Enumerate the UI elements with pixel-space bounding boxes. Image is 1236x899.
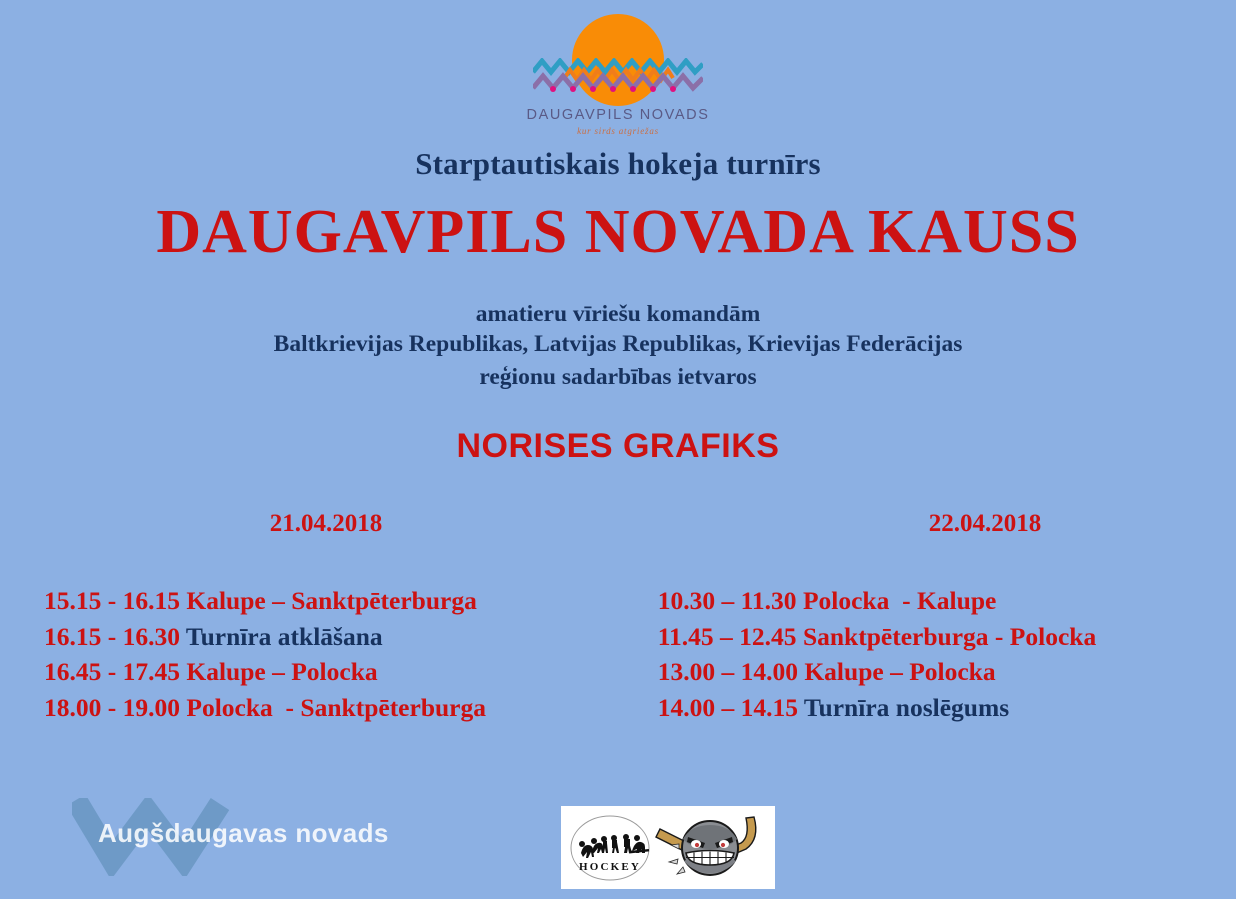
daugavpils-novads-logo: DAUGAVPILS NOVADS kur sirds atgriežas [0,14,1236,136]
hockey-evolution-emblem-icon: HOCKEY [569,813,651,883]
augsdaugavas-novads-watermark: Augšdaugavas novads [72,798,412,876]
schedule-row: 10.30 – 11.30 Polocka - Kalupe [658,583,1236,619]
schedule-row: 16.45 - 17.45 Kalupe – Polocka [44,654,643,690]
schedule-row-match: Kalupe – Polocka [804,657,995,686]
schedule-row-time: 15.15 - 16.15 [44,586,186,615]
schedule-row: 11.45 – 12.45 Sanktpēterburga - Polocka [658,619,1236,655]
angry-puck-mascot-icon [653,809,765,887]
schedule-row-match: Kalupe – Polocka [186,657,377,686]
schedule-row: 16.15 - 16.30 Turnīra atklāšana [44,619,643,655]
schedule-row-time: 16.15 - 16.30 [44,622,186,651]
schedule-row-match: Polocka - Sanktpēterburga [186,693,486,722]
poster-subtitle-line-3: reģionu sadarbības ietvaros [0,362,1236,393]
schedule-row-time: 16.45 - 17.45 [44,657,186,686]
schedule-row-time: 11.45 – 12.45 [658,622,803,651]
schedule-table: 15.15 - 16.15 Kalupe – Sanktpēterburga16… [0,583,1236,726]
logo-mark [533,14,703,106]
schedule-row-match: Sanktpēterburga - Polocka [803,622,1096,651]
schedule-row: 18.00 - 19.00 Polocka - Sanktpēterburga [44,690,643,726]
schedule-row-event: Turnīra atklāšana [186,622,383,651]
svg-text:HOCKEY: HOCKEY [579,861,641,873]
poster-subtitle-line-2: Baltkrievijas Republikas, Latvijas Repub… [0,329,1236,360]
schedule-column-day-1: 15.15 - 16.15 Kalupe – Sanktpēterburga16… [0,583,643,726]
date-day-2: 22.04.2018 [618,510,1236,538]
schedule-row-time: 14.00 – 14.15 [658,693,804,722]
poster-title: DAUGAVPILS NOVADA KAUSS [0,200,1236,265]
logo-wordmark: DAUGAVPILS NOVADS [527,108,710,123]
schedule-row-match: Kalupe – Sanktpēterburga [186,586,476,615]
poster-subtitle-line-1: amatieru vīriešu komandām [0,299,1236,330]
date-day-1: 21.04.2018 [0,510,618,538]
schedule-row-event: Turnīra noslēgums [804,693,1009,722]
schedule-row-match: Polocka - Kalupe [803,586,996,615]
zigzag-dots-icon [533,82,703,96]
sponsor-logos-panel: HOCKEY [561,806,775,889]
schedule-row: 13.00 – 14.00 Kalupe – Polocka [658,654,1236,690]
logo-tagline: kur sirds atgriežas [577,126,659,136]
schedule-row-time: 13.00 – 14.00 [658,657,805,686]
schedule-row-time: 18.00 - 19.00 [44,693,186,722]
schedule-column-day-2: 10.30 – 11.30 Polocka - Kalupe11.45 – 12… [643,583,1236,726]
poster-kicker: Starptautiskais hokeja turnīrs [0,146,1236,182]
watermark-label: Augšdaugavas novads [98,818,389,849]
schedule-row-time: 10.30 – 11.30 [658,586,803,615]
schedule-row: 15.15 - 16.15 Kalupe – Sanktpēterburga [44,583,643,619]
schedule-dates-row: 21.04.2018 22.04.2018 [0,510,1236,538]
section-title-schedule: NORISES GRAFIKS [0,427,1236,466]
schedule-row: 14.00 – 14.15 Turnīra noslēgums [658,690,1236,726]
